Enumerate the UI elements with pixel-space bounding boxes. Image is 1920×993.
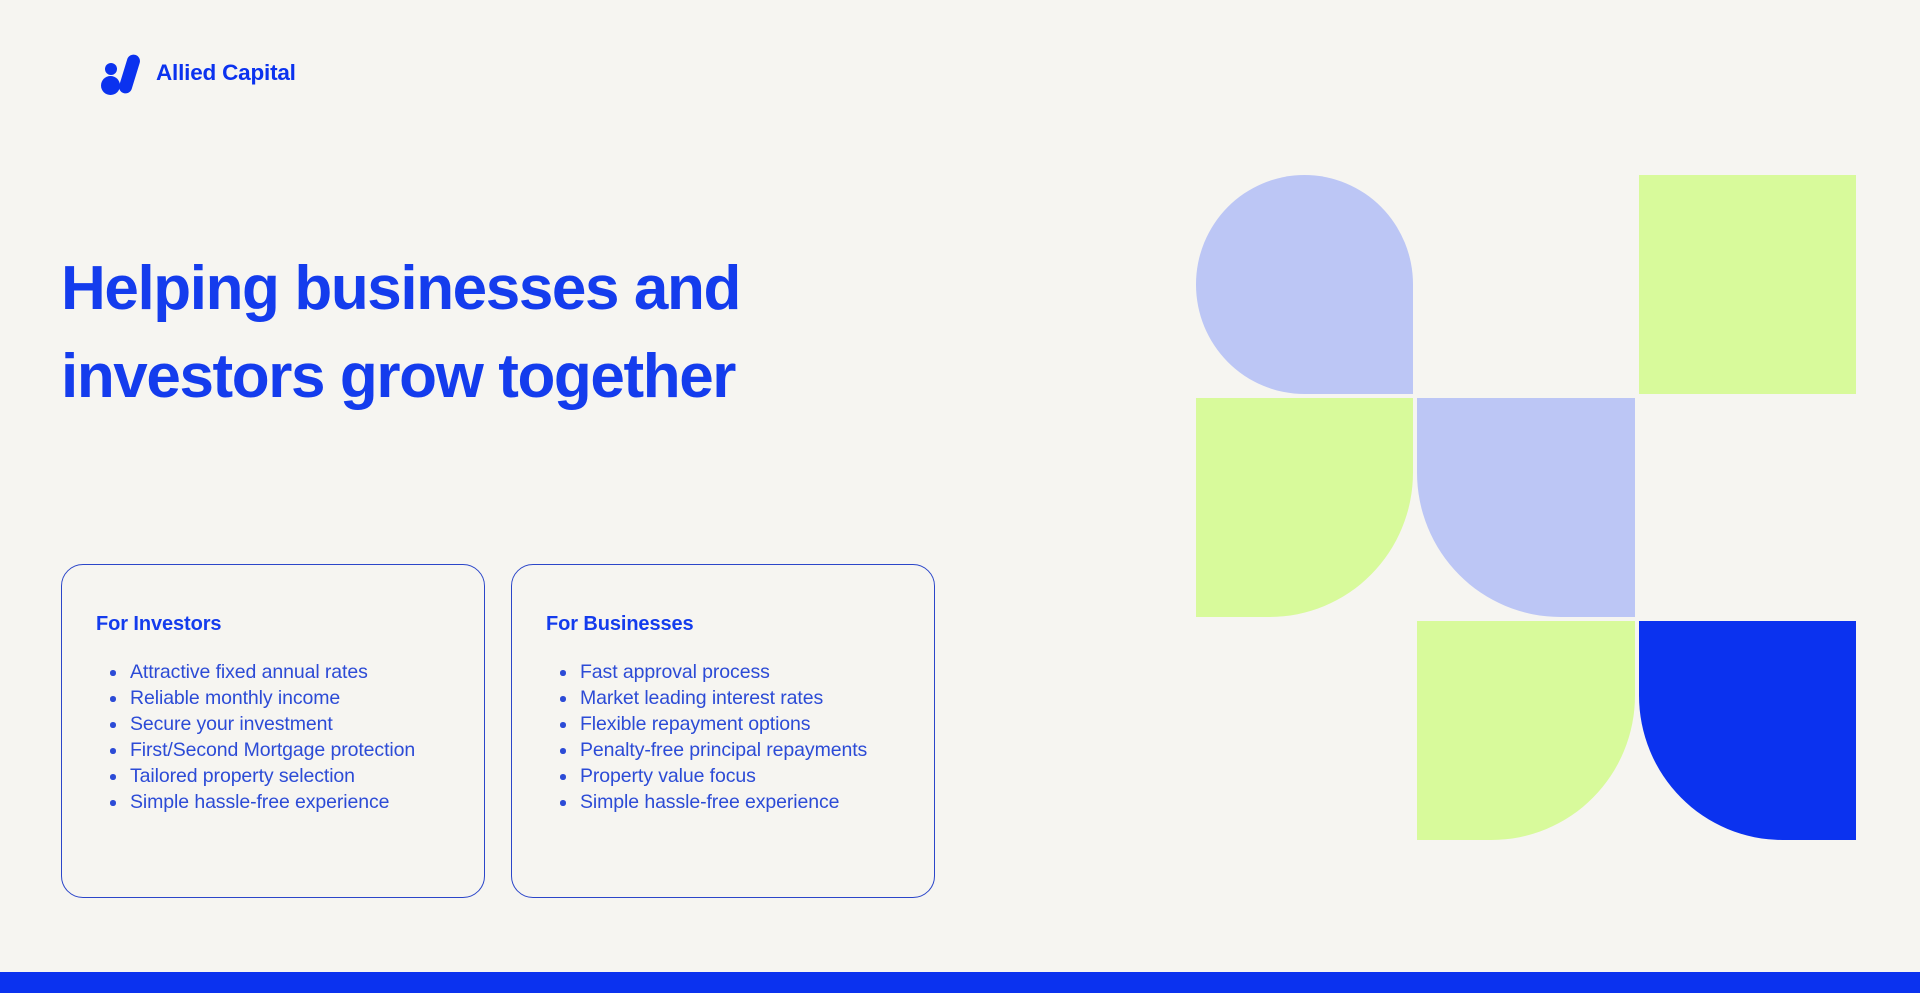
investor-benefit-list: Attractive fixed annual rates Reliable m… (96, 659, 450, 815)
card-title-investors: For Investors (96, 613, 450, 636)
shape-tile-r2c2-periwinkle (1417, 398, 1634, 617)
card-title-businesses: For Businesses (546, 613, 900, 636)
list-item: Market leading interest rates (546, 685, 900, 711)
shape-tile-r3c1-empty (1196, 621, 1413, 840)
list-item: Flexible repayment options (546, 711, 900, 737)
list-item: Attractive fixed annual rates (96, 659, 450, 685)
brand-name: Allied Capital (156, 60, 296, 86)
shape-tile-r1c3-lime (1639, 175, 1856, 394)
list-item: Penalty-free principal repayments (546, 737, 900, 763)
logo-bar-shape (117, 53, 141, 95)
brand-logo[interactable]: Allied Capital (100, 52, 296, 94)
list-item: Simple hassle-free experience (96, 789, 450, 815)
list-item: Secure your investment (96, 711, 450, 737)
headline-line-1: Helping businesses and (61, 245, 961, 333)
card-for-businesses: For Businesses Fast approval process Mar… (511, 564, 935, 898)
shape-tile-r2c1-lime (1196, 398, 1413, 617)
shape-tile-r1c3-inner (1639, 175, 1856, 394)
list-item: Simple hassle-free experience (546, 789, 900, 815)
hero-page: Allied Capital Helping businesses and in… (0, 0, 1920, 993)
shape-tile-r1c2-empty (1417, 175, 1634, 394)
shape-tile-r1c1-periwinkle-blob (1196, 175, 1413, 394)
list-item: Reliable monthly income (96, 685, 450, 711)
list-item: Tailored property selection (96, 763, 450, 789)
decorative-shape-grid (1196, 175, 1856, 840)
page-title: Helping businesses and investors grow to… (61, 245, 961, 421)
logo-small-dot-shape (105, 63, 117, 75)
benefit-cards: For Investors Attractive fixed annual ra… (61, 564, 935, 898)
shape-tile-r2c3-empty (1639, 398, 1856, 617)
allied-capital-mark-icon (100, 52, 142, 94)
logo-large-dot-shape (101, 76, 120, 95)
shape-tile-r3c2-lime (1417, 621, 1634, 840)
bottom-accent-bar (0, 972, 1920, 993)
headline-line-2: investors grow together (61, 333, 961, 421)
list-item: First/Second Mortgage protection (96, 737, 450, 763)
card-for-investors: For Investors Attractive fixed annual ra… (61, 564, 485, 898)
shape-tile-r3c3-blue (1639, 621, 1856, 840)
business-benefit-list: Fast approval process Market leading int… (546, 659, 900, 815)
list-item: Property value focus (546, 763, 900, 789)
list-item: Fast approval process (546, 659, 900, 685)
